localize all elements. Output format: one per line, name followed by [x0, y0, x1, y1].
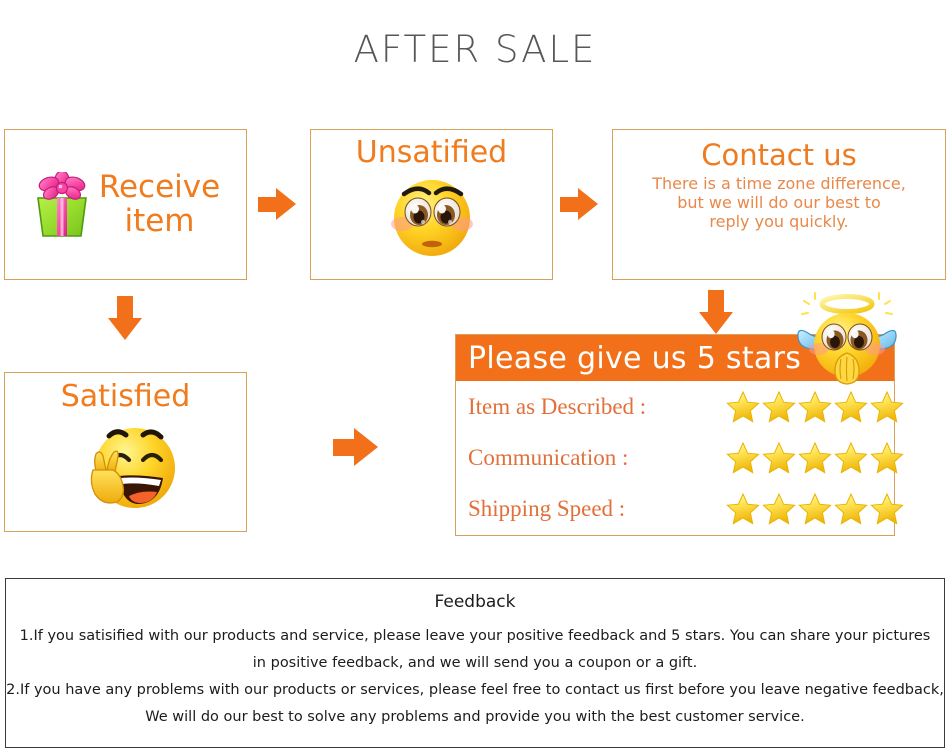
step-unsatisfied-label: Unsatified [311, 135, 552, 170]
rating-label-shipping-speed: Shipping Speed : [468, 496, 726, 522]
star-icon[interactable] [870, 441, 904, 474]
step-satisfied-label: Satisfied [5, 379, 246, 414]
arrow-unsatisfied-to-contact-icon [560, 188, 600, 221]
rating-row: Communication : [456, 432, 894, 483]
receive-line-1: Receive [99, 171, 220, 204]
rating-panel-header-text: Please give us 5 stars [468, 341, 801, 376]
feedback-line-4: We will do our best to solve any problem… [6, 709, 944, 725]
star-group-shipping-speed [726, 492, 904, 525]
sad-face-emoji [384, 168, 480, 265]
feedback-line-3: 2.If you have any problems with our prod… [6, 682, 944, 698]
arrow-receive-to-satisfied-icon [108, 296, 142, 341]
feedback-line-2: in positive feedback, and we will send y… [6, 655, 944, 671]
after-sale-infographic: AFTER SALE [0, 0, 950, 754]
happy-victory-face-emoji [67, 412, 185, 521]
rating-row: Item as Described : [456, 381, 894, 432]
star-group-item-as-described [726, 390, 904, 423]
receive-line-2: item [99, 205, 220, 238]
star-icon[interactable] [834, 441, 868, 474]
contact-line-1: There is a time zone difference, [613, 175, 945, 194]
contact-line-2: but we will do our best to [613, 194, 945, 213]
feedback-box: Feedback 1.If you satisified with our pr… [5, 578, 945, 748]
arrow-contact-to-stars-icon [699, 290, 733, 335]
feedback-title: Feedback [6, 592, 944, 612]
star-icon[interactable] [726, 390, 760, 423]
star-icon[interactable] [834, 492, 868, 525]
star-group-communication [726, 441, 904, 474]
star-icon[interactable] [870, 390, 904, 423]
star-icon[interactable] [762, 492, 796, 525]
star-icon[interactable] [798, 441, 832, 474]
rating-label-item-as-described: Item as Described : [468, 394, 726, 420]
arrow-receive-to-unsatisfied-icon [258, 188, 298, 221]
star-icon[interactable] [762, 441, 796, 474]
contact-line-3: reply you quickly. [613, 213, 945, 232]
star-icon[interactable] [870, 492, 904, 525]
star-icon[interactable] [798, 492, 832, 525]
step-satisfied-box: Satisfied [4, 372, 247, 532]
gift-icon [31, 172, 93, 238]
star-icon[interactable] [834, 390, 868, 423]
angel-praying-emoji [795, 291, 899, 386]
step-unsatisfied-box: Unsatified [310, 129, 553, 280]
feedback-line-1: 1.If you satisified with our products an… [6, 628, 944, 644]
star-icon[interactable] [762, 390, 796, 423]
step-receive-item-label: Receive item [99, 171, 220, 237]
rating-label-communication: Communication : [468, 445, 726, 471]
star-icon[interactable] [798, 390, 832, 423]
rating-row: Shipping Speed : [456, 483, 894, 534]
arrow-satisfied-to-stars-icon [333, 428, 379, 466]
step-contact-us-box: Contact us There is a time zone differen… [612, 129, 946, 280]
star-icon[interactable] [726, 441, 760, 474]
page-title: AFTER SALE [0, 28, 950, 71]
step-receive-item-box: Receive item [4, 129, 247, 280]
contact-us-title: Contact us [613, 138, 945, 172]
star-icon[interactable] [726, 492, 760, 525]
